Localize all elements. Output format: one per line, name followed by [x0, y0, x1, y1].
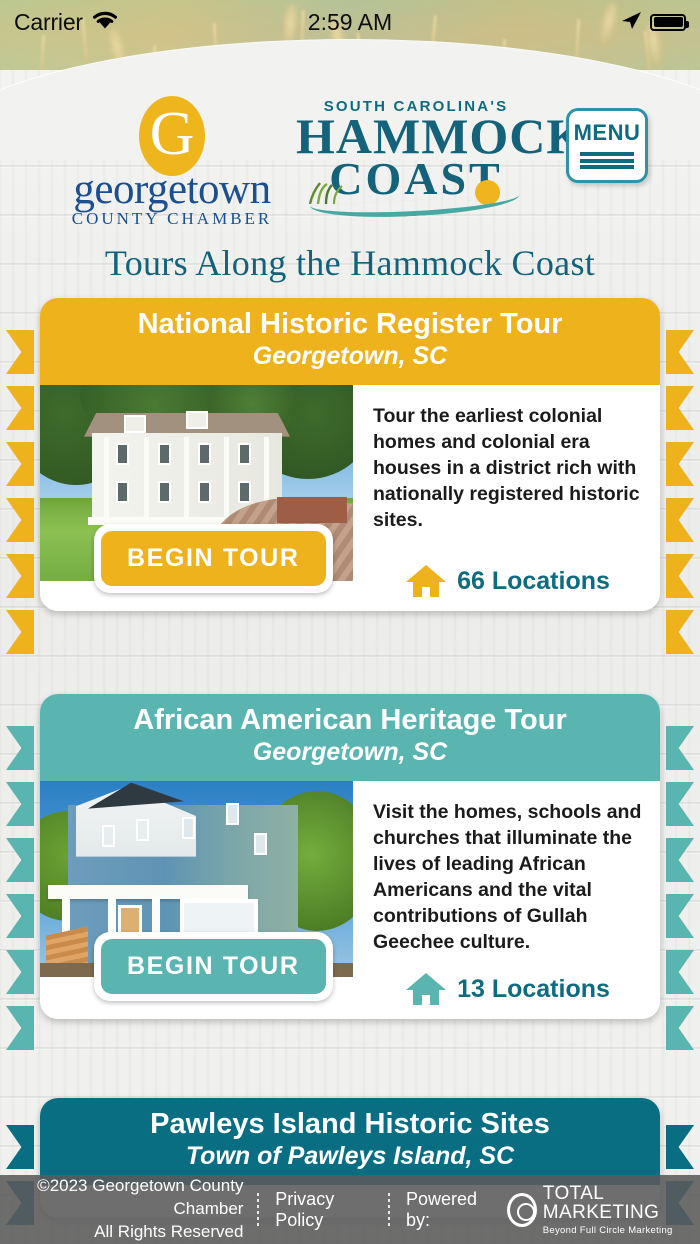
hammock-logo-line1: HAMMOCK — [296, 115, 536, 158]
total-marketing-logo[interactable]: TOTAL MARKETING Beyond Full Circle Marke… — [507, 1184, 700, 1236]
total-marketing-name: TOTAL MARKETING — [543, 1184, 700, 1222]
tour-title: Pawleys Island Historic Sites — [52, 1109, 648, 1141]
zigzag-decoration-right-teal — [666, 726, 694, 1062]
status-bar: Carrier 2:59 AM — [0, 0, 700, 44]
grass-icon — [304, 182, 364, 204]
tour-description: Visit the homes, schools and churches th… — [373, 799, 642, 956]
tour-locations-label: 66 Locations — [457, 567, 610, 596]
tour-subtitle: Town of Pawleys Island, SC — [52, 1142, 648, 1171]
carrier-label: Carrier — [14, 9, 83, 36]
tour-locations: 66 Locations — [373, 563, 642, 599]
begin-tour-label: BEGIN TOUR — [101, 939, 326, 994]
tour-card[interactable]: National Historic Register Tour Georgeto… — [40, 298, 660, 611]
footer: ©2023 Georgetown County Chamber All Righ… — [0, 1175, 700, 1244]
tour-card-header: Pawleys Island Historic Sites Town of Pa… — [40, 1098, 660, 1185]
location-arrow-icon — [620, 10, 642, 35]
begin-tour-button[interactable]: BEGIN TOUR — [94, 524, 333, 593]
begin-tour-label: BEGIN TOUR — [101, 531, 326, 586]
chamber-monogram-icon: G — [139, 96, 205, 176]
tour-card-header: African American Heritage Tour Georgetow… — [40, 694, 660, 781]
footer-copyright: ©2023 Georgetown County Chamber All Righ… — [0, 1175, 257, 1244]
tour-locations: 13 Locations — [373, 971, 642, 1007]
tour-card-header: National Historic Register Tour Georgeto… — [40, 298, 660, 385]
hammock-logo-artwork — [296, 196, 536, 218]
tour-subtitle: Georgetown, SC — [52, 342, 648, 371]
hamburger-icon — [580, 150, 634, 172]
chamber-logo-name: georgetown — [52, 170, 292, 211]
zigzag-decoration-left-gold — [6, 330, 34, 666]
begin-tour-button[interactable]: BEGIN TOUR — [94, 932, 333, 1001]
total-marketing-tagline: Beyond Full Circle Marketing — [543, 1225, 700, 1236]
app-header: G georgetown COUNTY CHAMBER SOUTH CAROLI… — [0, 88, 700, 218]
footer-copyright-line2: All Rights Reserved — [0, 1221, 243, 1244]
tour-locations-label: 13 Locations — [457, 975, 610, 1004]
tour-card[interactable]: African American Heritage Tour Georgetow… — [40, 694, 660, 1019]
menu-button-label: MENU — [574, 120, 641, 146]
page-title: Tours Along the Hammock Coast — [0, 242, 700, 284]
total-marketing-circle-icon — [507, 1193, 537, 1227]
house-icon — [405, 563, 447, 599]
tour-title: African American Heritage Tour — [52, 705, 648, 737]
georgetown-chamber-logo[interactable]: G georgetown COUNTY CHAMBER — [52, 96, 292, 229]
footer-copyright-line1: ©2023 Georgetown County Chamber — [0, 1175, 243, 1221]
zigzag-decoration-right-gold — [666, 330, 694, 666]
wifi-icon — [91, 10, 119, 35]
privacy-policy-link[interactable]: Privacy Policy — [259, 1189, 388, 1231]
tour-description: Tour the earliest colonial homes and col… — [373, 403, 642, 534]
tour-subtitle: Georgetown, SC — [52, 738, 648, 767]
hammock-coast-logo[interactable]: SOUTH CAROLINA'S HAMMOCK COAST — [296, 98, 536, 218]
house-icon — [405, 971, 447, 1007]
battery-full-icon — [650, 14, 686, 31]
zigzag-decoration-left-teal — [6, 726, 34, 1062]
powered-by-label: Powered by: — [390, 1189, 507, 1231]
chamber-monogram-letter: G — [150, 103, 195, 165]
chamber-logo-subtitle: COUNTY CHAMBER — [52, 209, 292, 229]
tour-title: National Historic Register Tour — [52, 309, 648, 341]
menu-button[interactable]: MENU — [566, 108, 648, 183]
